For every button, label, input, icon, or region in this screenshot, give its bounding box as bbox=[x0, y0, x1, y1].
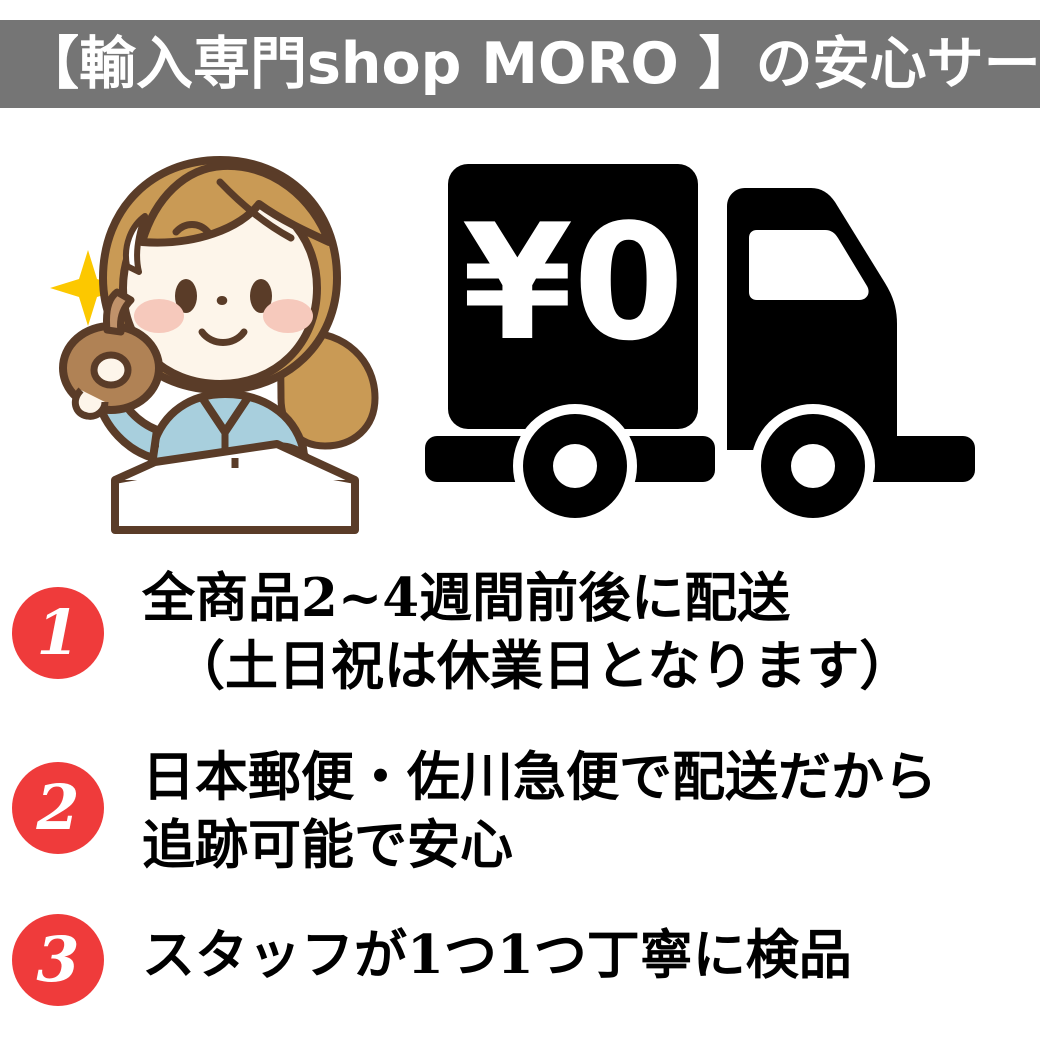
service-line-2-2: 追跡可能で安心 bbox=[142, 812, 1032, 880]
free-shipping-truck-icon: ¥0 bbox=[415, 148, 1015, 528]
woman-packing-box-illustration bbox=[45, 146, 415, 536]
service-line-2-1: 日本郵便・佐川急便で配送だから bbox=[142, 744, 1032, 812]
service-text-1: 全商品2~4週間前後に配送 （土日祝は休業日となります） bbox=[142, 565, 1032, 701]
service-line-3-1: スタッフが1つ1つ丁寧に検品 bbox=[142, 922, 1032, 990]
illustration-row: ¥0 bbox=[0, 118, 1040, 533]
service-list: 1 全商品2~4週間前後に配送 （土日祝は休業日となります） 2 日本郵便・佐川… bbox=[0, 540, 1040, 1040]
service-text-2: 日本郵便・佐川急便で配送だから 追跡可能で安心 bbox=[142, 744, 1032, 880]
service-line-1-1: 全商品2~4週間前後に配送 bbox=[142, 565, 1032, 633]
service-item-1: 1 全商品2~4週間前後に配送 （土日祝は休業日となります） bbox=[0, 555, 1040, 730]
service-badge-1: 1 bbox=[12, 587, 104, 679]
service-badge-2: 2 bbox=[12, 762, 104, 854]
truck-price-label: ¥0 bbox=[462, 189, 685, 376]
header-banner: 【輸入専門shop MORO 】の安心サービス bbox=[0, 20, 1040, 108]
page-title: 【輸入専門shop MORO 】の安心サービス bbox=[22, 36, 1040, 93]
service-text-3: スタッフが1つ1つ丁寧に検品 bbox=[142, 922, 1032, 990]
service-item-2: 2 日本郵便・佐川急便で配送だから 追跡可能で安心 bbox=[0, 740, 1040, 890]
service-badge-3: 3 bbox=[12, 914, 104, 1006]
service-line-1-2: （土日祝は休業日となります） bbox=[142, 633, 1032, 701]
promo-banner-page: 【輸入専門shop MORO 】の安心サービス bbox=[0, 0, 1040, 1040]
service-item-3: 3 スタッフが1つ1つ丁寧に検品 bbox=[0, 900, 1040, 1030]
